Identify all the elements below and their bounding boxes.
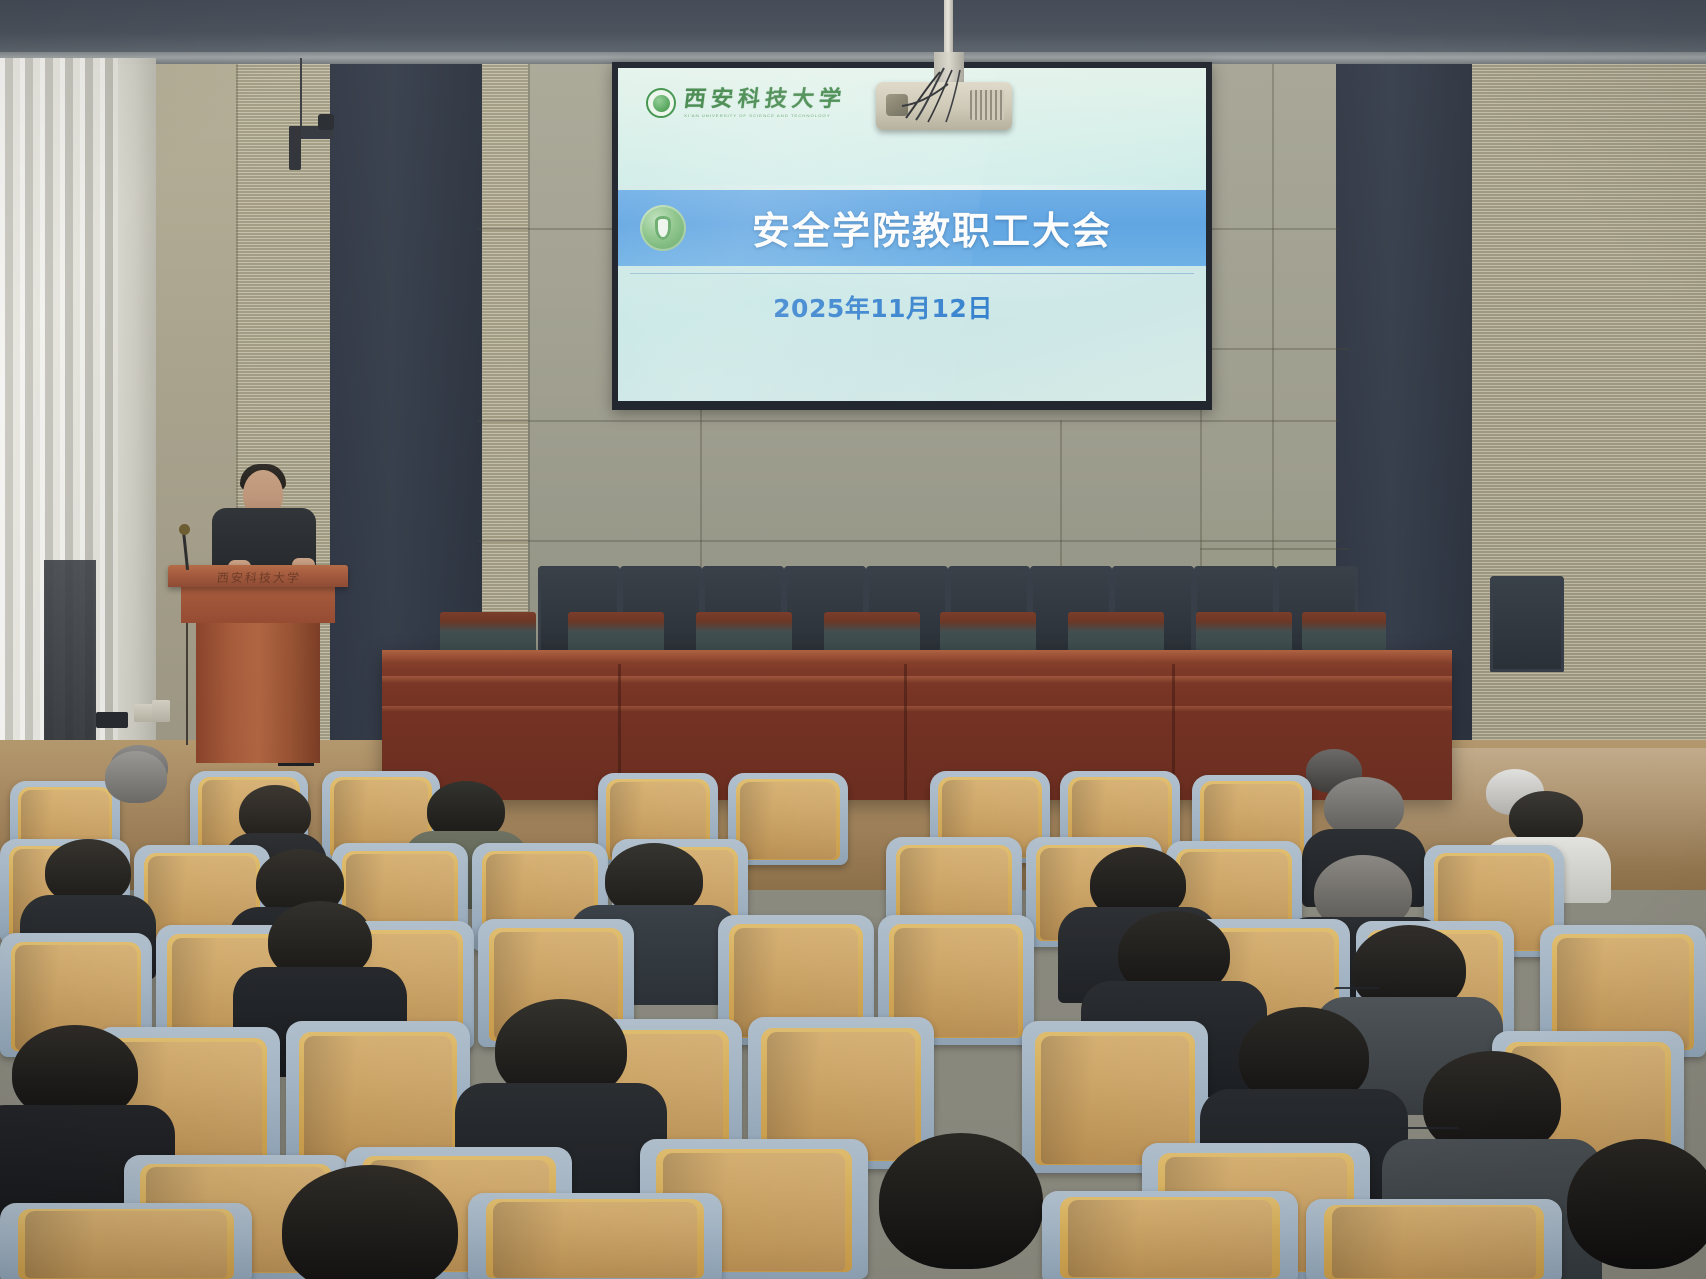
wall-seam <box>478 540 1340 542</box>
microphone-head-icon <box>179 524 190 535</box>
ceiling <box>0 0 1706 58</box>
audience-seating <box>0 735 1706 1279</box>
university-name-english: XI'AN UNIVERSITY OF SCIENCE AND TECHNOLO… <box>684 113 846 118</box>
auditorium-scene: 西安科技大学 XI'AN UNIVERSITY OF SCIENCE AND T… <box>0 0 1706 1279</box>
projector-arm <box>934 52 964 86</box>
projector-vent <box>970 90 1004 120</box>
college-shield-icon <box>640 205 686 251</box>
wall-seam <box>1200 348 1350 350</box>
audience-seat[interactable] <box>0 1203 252 1279</box>
podium-cable <box>186 623 188 745</box>
wall-outlet[interactable] <box>152 700 170 722</box>
bracket-wire <box>300 58 302 128</box>
audience-person <box>100 751 172 821</box>
university-seal-icon <box>646 88 676 118</box>
university-logo: 西安科技大学 XI'AN UNIVERSITY OF SCIENCE AND T… <box>646 88 846 118</box>
projector-lens-icon <box>886 94 908 116</box>
side-chair[interactable] <box>1490 576 1564 672</box>
right-ribbed-acoustic-panel <box>1468 58 1706 798</box>
wall-seam <box>1200 548 1350 550</box>
podium-body <box>181 587 335 623</box>
audience-person <box>270 1165 470 1279</box>
wall-bracket-post <box>289 126 301 170</box>
audience-seat[interactable] <box>1042 1191 1298 1279</box>
university-name: 西安科技大学 <box>683 88 848 110</box>
slide-divider <box>630 273 1194 274</box>
slide-title: 安全学院教职工大会 <box>686 200 1206 255</box>
projector-ceiling-pole <box>944 0 953 58</box>
audience-seat[interactable] <box>1306 1199 1562 1279</box>
audience-person <box>1562 1139 1706 1279</box>
wall-seam <box>478 420 1340 422</box>
curtain-shadow <box>44 560 96 760</box>
audience-person <box>866 1133 1056 1279</box>
wall-switch-panel[interactable] <box>96 712 128 728</box>
slide-title-banner: 安全学院教职工大会 <box>618 190 1206 267</box>
slide-date: 2025年11月12日 <box>618 289 1206 325</box>
wall-camera-icon <box>318 114 334 130</box>
ceiling-projector-icon <box>876 82 1012 130</box>
podium-engraving: 西安科技大学 <box>195 569 323 586</box>
audience-seat[interactable] <box>468 1193 722 1279</box>
